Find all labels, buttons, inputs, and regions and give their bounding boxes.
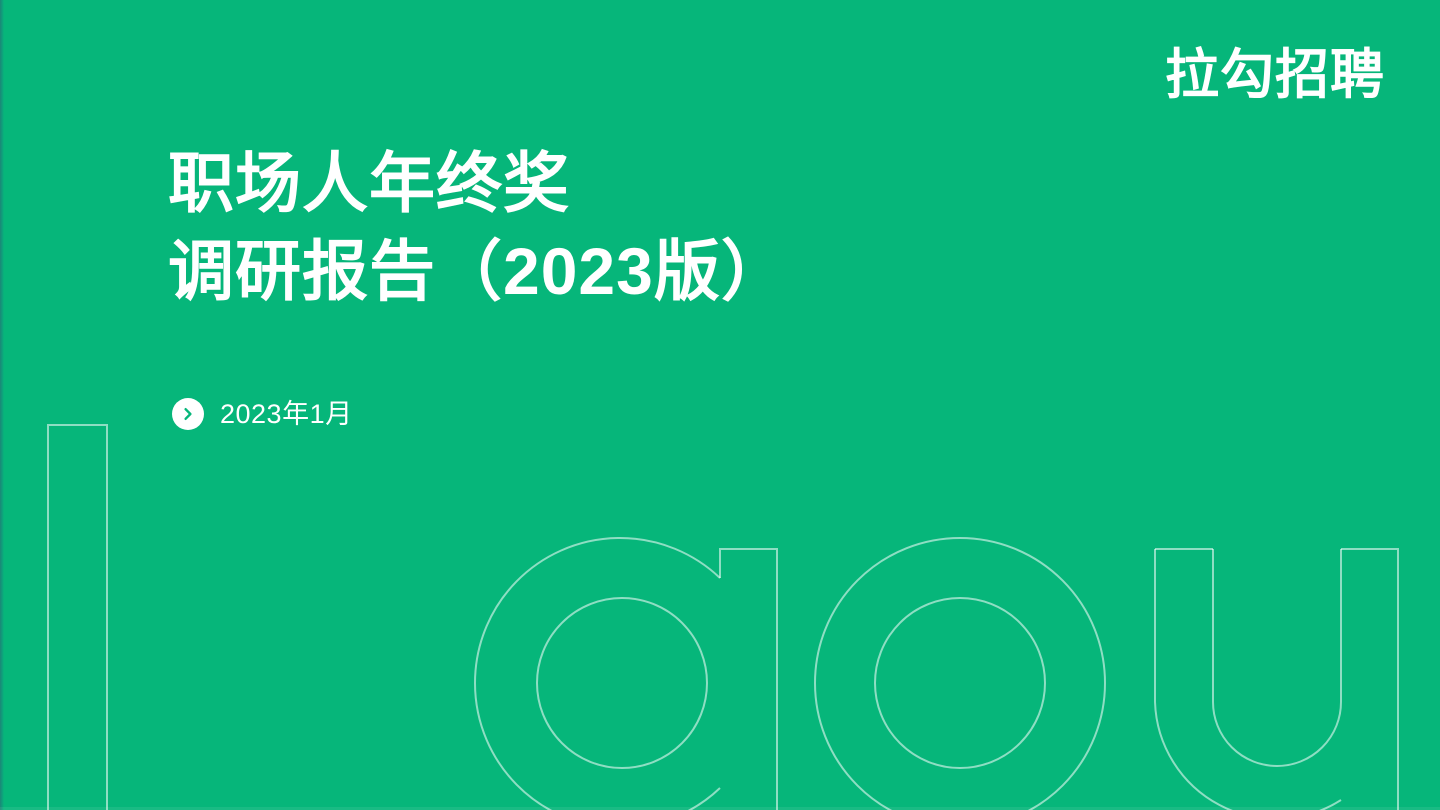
title-slide: 拉勾招聘 职场人年终奖 调研报告（2023版） 2023年1月: [0, 0, 1440, 810]
page-title: 职场人年终奖 调研报告（2023版）: [168, 140, 788, 316]
brand-logo: 拉勾招聘: [1165, 48, 1385, 102]
publish-date: 2023年1月: [172, 398, 353, 430]
left-edge-strip: [0, 0, 4, 810]
watermark-letter-u: [1155, 549, 1398, 810]
watermark-letter-a: [475, 538, 777, 810]
page-title-line-2: 调研报告（2023版）: [168, 228, 788, 316]
chevron-right-icon: [172, 398, 204, 430]
publish-date-label: 2023年1月: [220, 401, 353, 428]
watermark-letter-g: [813, 538, 1058, 810]
page-title-line-1: 职场人年终奖: [168, 140, 788, 228]
watermark-letter-l: [48, 425, 107, 810]
watermark-letter-o: [815, 538, 1105, 810]
